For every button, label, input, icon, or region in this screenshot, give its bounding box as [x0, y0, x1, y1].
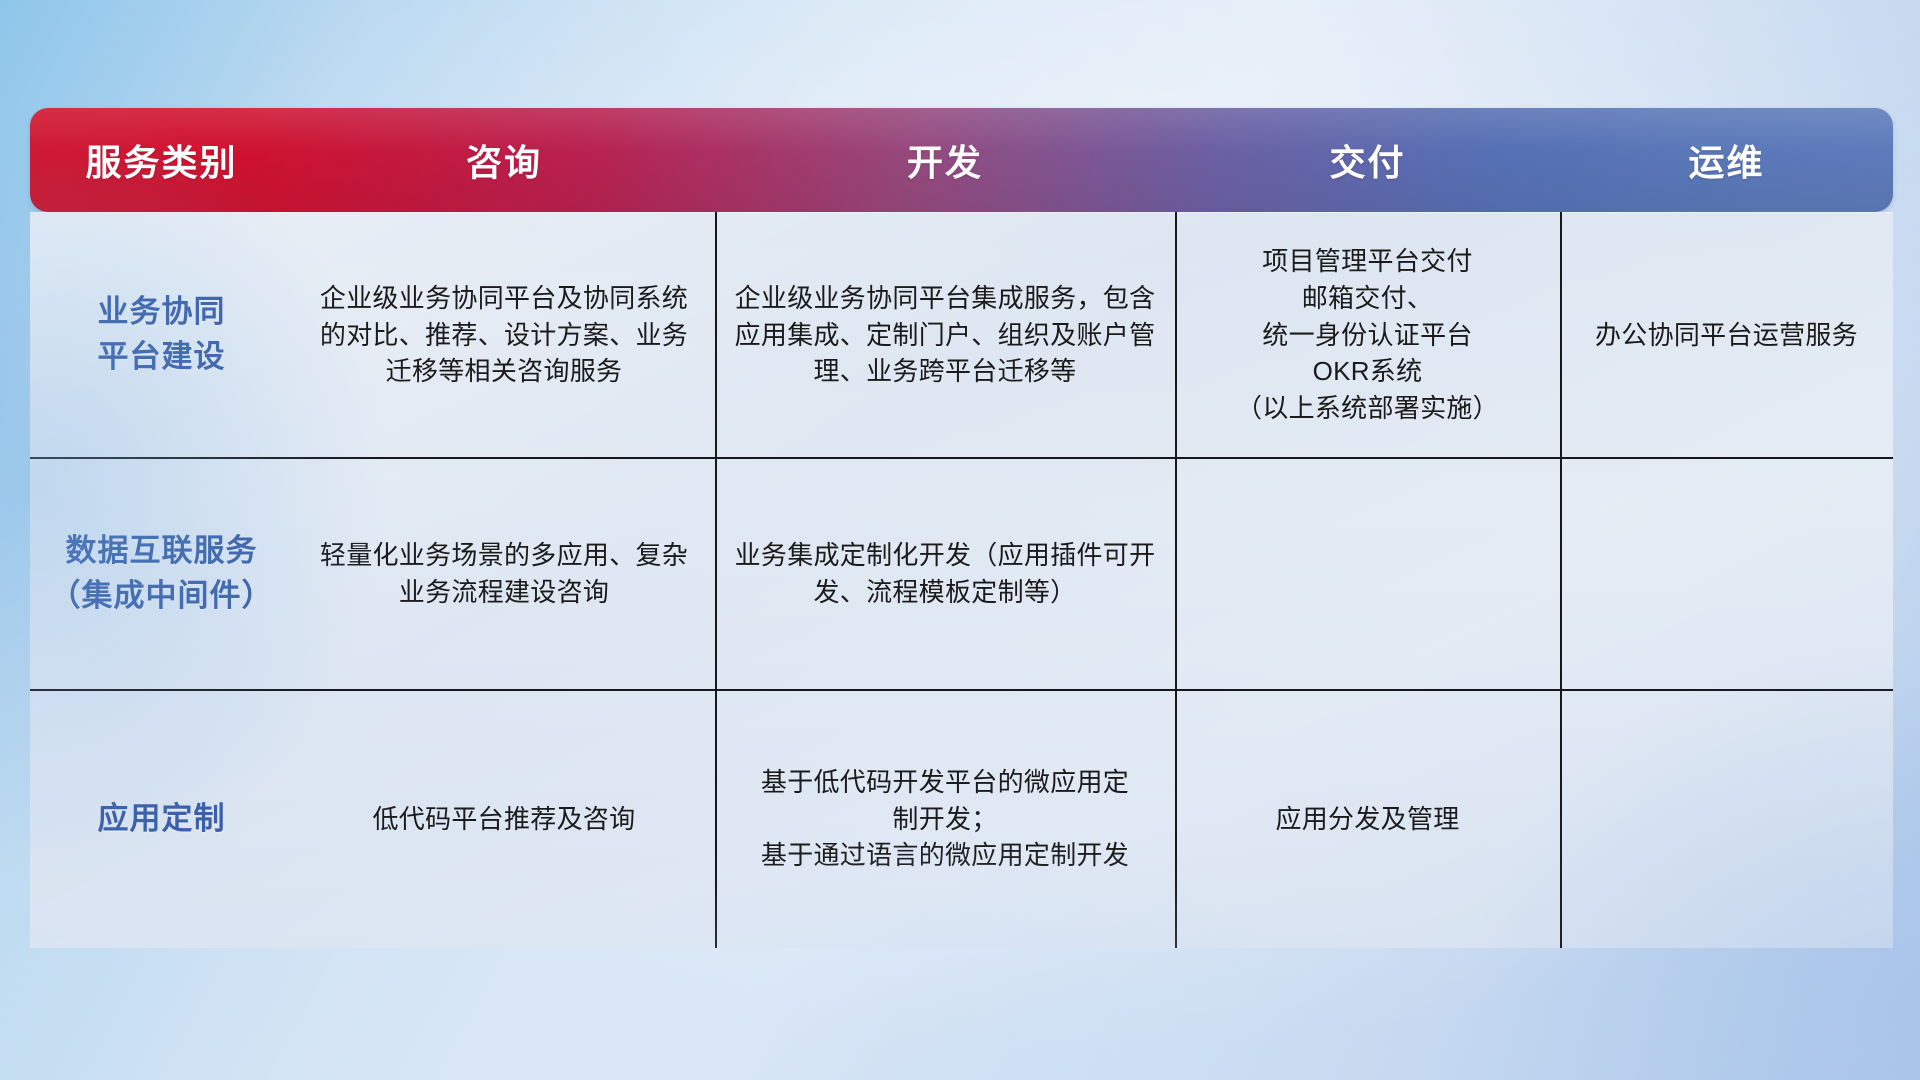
category-label: 应用定制: [98, 797, 226, 842]
category-line: 业务协同: [98, 290, 226, 335]
table-row[interactable]: 应用定制 低代码平台推荐及咨询 基于低代码开发平台的微应用定 制开发； 基于通过…: [30, 690, 1893, 948]
cell-operations: 办公协同平台运营服务: [1560, 212, 1893, 458]
cell-text-line: 项目管理平台交付: [1236, 243, 1499, 280]
table-body: 业务协同 平台建设 企业级业务协同平台及协同系统的对比、推荐、设计方案、业务迁移…: [30, 212, 1893, 948]
cell-delivery: 应用分发及管理: [1175, 690, 1560, 948]
category-line: 应用定制: [98, 797, 226, 842]
cell-development: 基于低代码开发平台的微应用定 制开发； 基于通过语言的微应用定制开发: [715, 690, 1175, 948]
service-matrix-table: 服务类别 咨询 开发 交付 运维 业务协同 平台建设: [30, 108, 1893, 948]
cell-text: 轻量化业务场景的多应用、复杂业务流程建设咨询: [307, 537, 701, 611]
cell-operations: [1560, 690, 1893, 948]
cell-text-line: 基于低代码开发平台的微应用定: [761, 764, 1129, 801]
cell-development: 企业级业务协同平台集成服务，包含应用集成、定制门户、组织及账户管理、业务跨平台迁…: [715, 212, 1175, 458]
category-label: 数据互联服务 （集成中间件）: [50, 529, 274, 619]
column-header-operations: 运维: [1560, 108, 1893, 212]
cell-text: 应用分发及管理: [1275, 801, 1459, 838]
cell-category: 业务协同 平台建设: [30, 212, 293, 458]
category-line: 数据互联服务: [50, 529, 274, 574]
table-header: 服务类别 咨询 开发 交付 运维: [30, 108, 1893, 212]
table-header-row: 服务类别 咨询 开发 交付 运维: [30, 108, 1893, 212]
cell-text: 企业级业务协同平台及协同系统的对比、推荐、设计方案、业务迁移等相关咨询服务: [307, 280, 701, 391]
column-header-consulting: 咨询: [293, 108, 715, 212]
column-header-development: 开发: [715, 108, 1175, 212]
cell-text-line: 统一身份认证平台: [1236, 317, 1499, 354]
cell-text-line: 邮箱交付、: [1236, 280, 1499, 317]
cell-consulting: 轻量化业务场景的多应用、复杂业务流程建设咨询: [293, 458, 715, 690]
cell-category: 数据互联服务 （集成中间件）: [30, 458, 293, 690]
cell-delivery: 项目管理平台交付 邮箱交付、 统一身份认证平台 OKR系统 （以上系统部署实施）: [1175, 212, 1560, 458]
cell-text: 企业级业务协同平台集成服务，包含应用集成、定制门户、组织及账户管理、业务跨平台迁…: [729, 280, 1161, 391]
cell-text: 项目管理平台交付 邮箱交付、 统一身份认证平台 OKR系统 （以上系统部署实施）: [1236, 243, 1499, 428]
category-label: 业务协同 平台建设: [98, 290, 226, 380]
cell-text: 业务集成定制化开发（应用插件可开发、流程模板定制等）: [729, 537, 1161, 611]
column-header-category: 服务类别: [30, 108, 293, 212]
cell-consulting: 低代码平台推荐及咨询: [293, 690, 715, 948]
column-header-delivery: 交付: [1175, 108, 1560, 212]
table-row[interactable]: 业务协同 平台建设 企业级业务协同平台及协同系统的对比、推荐、设计方案、业务迁移…: [30, 212, 1893, 458]
cell-text: 办公协同平台运营服务: [1595, 317, 1858, 354]
cell-development: 业务集成定制化开发（应用插件可开发、流程模板定制等）: [715, 458, 1175, 690]
cell-consulting: 企业级业务协同平台及协同系统的对比、推荐、设计方案、业务迁移等相关咨询服务: [293, 212, 715, 458]
category-line: 平台建设: [98, 335, 226, 380]
slide-canvas: 服务类别 咨询 开发 交付 运维 业务协同 平台建设: [0, 0, 1920, 1080]
cell-text: 基于低代码开发平台的微应用定 制开发； 基于通过语言的微应用定制开发: [761, 764, 1129, 875]
cell-delivery: [1175, 458, 1560, 690]
cell-text: 低代码平台推荐及咨询: [372, 801, 635, 838]
cell-operations: [1560, 458, 1893, 690]
cell-text-line: OKR系统: [1236, 353, 1499, 390]
table-row[interactable]: 数据互联服务 （集成中间件） 轻量化业务场景的多应用、复杂业务流程建设咨询 业务…: [30, 458, 1893, 690]
cell-text-line: 基于通过语言的微应用定制开发: [761, 837, 1129, 874]
category-line: （集成中间件）: [50, 574, 274, 619]
cell-text-line: 制开发；: [761, 801, 1129, 838]
cell-category: 应用定制: [30, 690, 293, 948]
cell-text-line: （以上系统部署实施）: [1236, 390, 1499, 427]
